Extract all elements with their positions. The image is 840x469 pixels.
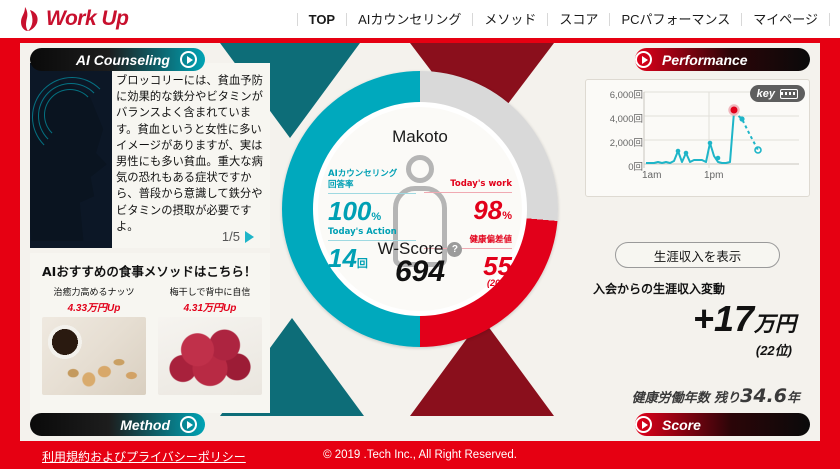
lifetime-income-amount: +17万円 <box>693 300 796 344</box>
stat-todays-work: Today's work 98% <box>424 179 512 230</box>
stat-label: AIカウンセリング回答率 <box>328 169 416 194</box>
panel-tab-method[interactable]: Method <box>30 413 205 436</box>
play-icon <box>635 51 652 68</box>
x-tick-label: 1pm <box>704 170 723 181</box>
nav-item-top[interactable]: TOP <box>297 13 347 26</box>
healthy-working-years: 健康労働年数 残り34.6年 <box>632 385 800 407</box>
show-lifetime-income-button[interactable]: 生涯収入を表示 <box>615 242 780 268</box>
list-item[interactable]: 梅干しで背中に自信 4.31万円Up <box>158 285 262 395</box>
ai-counseling-card: ブロッコリーには、貧血予防に効果的な鉄分やビタミンがバランスよく含まれています。… <box>30 63 270 248</box>
list-item[interactable]: 治癒力高めるナッツ 4.33万円Up <box>42 285 146 395</box>
performance-chart[interactable]: 6,000回 4,000回 2,000回 0回 <box>586 80 811 198</box>
meal-method-title: AIおすすめの食事メソッドはこちら！ <box>42 261 256 280</box>
meal-method-list: 治癒力高めるナッツ 4.33万円Up 梅干しで背中に自信 4.31万円Up <box>42 285 262 395</box>
site-header: Work Up TOP AIカウンセリング メソッド スコア PCパフォーマンス… <box>0 0 840 38</box>
score-donut-chart[interactable]: Makoto AIカウンセリング回答率 100% Today's Action … <box>282 71 558 347</box>
brand-logo[interactable]: Work Up <box>18 6 128 32</box>
chart-key-label: key <box>757 88 775 100</box>
x-tick-label: 1am <box>642 170 661 181</box>
panel-tab-ai-counseling-label: AI Counseling <box>66 52 180 68</box>
stat-value: 98% <box>424 196 512 230</box>
nav-item-mypage[interactable]: マイページ <box>741 13 830 26</box>
panel-tab-score-label: Score <box>652 417 711 433</box>
panel-tab-ai-counseling[interactable]: AI Counseling <box>30 48 205 71</box>
play-icon <box>635 416 652 433</box>
left-column: AI Counseling ブロッコリーには、貧血予防に効果的な鉄分やビタミンが… <box>20 43 265 441</box>
panel-tab-score[interactable]: Score <box>635 413 810 436</box>
flame-logo-icon <box>18 6 40 32</box>
wscore-value: 694 <box>318 257 522 287</box>
food-income-up: 4.31万円Up <box>158 299 262 314</box>
right-column: Performance 6,000回 4,000回 2,000回 0回 <box>575 43 820 441</box>
pager-count: 1/5 <box>222 229 240 244</box>
food-photo-nuts <box>42 317 146 395</box>
next-arrow-icon[interactable] <box>245 231 254 243</box>
nav-item-pc-performance[interactable]: PCパフォーマンス <box>609 13 741 26</box>
lifetime-income-card: 生涯収入を表示 入会からの生涯収入変動 +17万円 (22位) 健康労働年数 残… <box>585 238 810 413</box>
nav-item-score[interactable]: スコア <box>547 13 609 26</box>
performance-chart-card: 6,000回 4,000回 2,000回 0回 <box>585 79 810 197</box>
lifetime-income-rank: (22位) <box>756 340 792 359</box>
meal-method-card: AIおすすめの食事メソッドはこちら！ 治癒力高めるナッツ 4.33万円Up 梅干… <box>30 253 270 413</box>
wscore-block: W-Score ? 694 <box>318 239 522 287</box>
stage-canvas: AI Counseling ブロッコリーには、貧血予防に効果的な鉄分やビタミンが… <box>20 43 820 441</box>
score-donut-widget: Makoto AIカウンセリング回答率 100% Today's Action … <box>265 58 575 418</box>
keyboard-icon <box>780 89 798 99</box>
stat-label: Today's work <box>424 179 512 193</box>
signal-arc-3 <box>32 77 112 157</box>
panel-tab-method-label: Method <box>110 417 180 433</box>
stat-value: 100% <box>328 197 416 231</box>
play-icon <box>180 416 197 433</box>
ai-head-illustration <box>30 63 112 248</box>
lifetime-income-subtitle: 入会からの生涯収入変動 <box>593 280 725 297</box>
play-icon <box>180 51 197 68</box>
main-stage: AI Counseling ブロッコリーには、貧血予防に効果的な鉄分やビタミンが… <box>0 43 840 441</box>
ai-counseling-text: ブロッコリーには、貧血予防に効果的な鉄分やビタミンがバランスよく含まれています。… <box>116 73 264 235</box>
panel-tab-performance[interactable]: Performance <box>635 48 810 71</box>
copyright-text: © 2019 .Tech Inc., All Right Reserved. <box>0 449 840 461</box>
stat-ai-counseling-rate: AIカウンセリング回答率 100% <box>328 169 416 231</box>
nav-item-method[interactable]: メソッド <box>472 13 547 26</box>
help-icon[interactable]: ? <box>447 242 462 257</box>
brand-name: Work Up <box>46 7 128 31</box>
site-footer: 利用規約およびプライバシーポリシー © 2019 .Tech Inc., All… <box>0 441 840 469</box>
main-nav: TOP AIカウンセリング メソッド スコア PCパフォーマンス マイページ <box>297 0 830 38</box>
ai-counseling-pager[interactable]: 1/5 <box>222 229 254 244</box>
food-name: 治癒力高めるナッツ <box>42 285 146 298</box>
food-income-up: 4.33万円Up <box>42 299 146 314</box>
chart-key-button[interactable]: key <box>750 85 805 102</box>
food-photo-umeboshi <box>158 317 262 395</box>
panel-tab-performance-label: Performance <box>652 52 758 68</box>
nav-item-ai-counseling[interactable]: AIカウンセリング <box>346 13 472 26</box>
user-name: Makoto <box>318 127 522 147</box>
food-name: 梅干しで背中に自信 <box>158 285 262 298</box>
donut-center-panel: Makoto AIカウンセリング回答率 100% Today's Action … <box>313 102 527 316</box>
